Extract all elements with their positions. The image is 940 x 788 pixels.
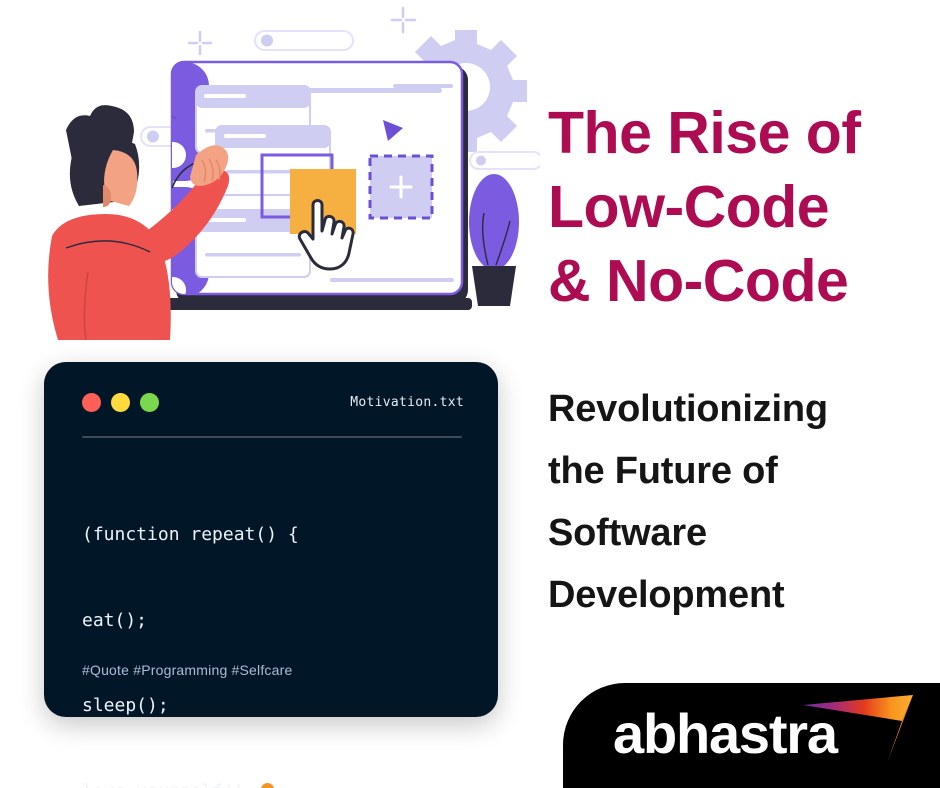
pill-toggle-right — [470, 152, 540, 169]
code-line-1: eat(); — [82, 607, 474, 636]
page-subtitle: Revolutionizing the Future of Software D… — [548, 378, 940, 626]
pill-toggle-top-right — [255, 31, 353, 50]
headline-line-1: The Rise of — [548, 96, 940, 170]
accent-dot-icon — [261, 783, 274, 788]
brand-logo: abhastra — [563, 683, 940, 788]
code-card-filename: Motivation.txt — [350, 395, 464, 410]
minimize-dot[interactable] — [111, 393, 130, 412]
code-line-0: (function repeat() { — [82, 521, 474, 550]
subheadline-line-4: Development — [548, 564, 940, 626]
code-line-2: sleep(); — [82, 692, 474, 721]
page-title: The Rise of Low-Code & No-Code — [548, 96, 940, 318]
code-card-divider — [82, 436, 462, 438]
poster-canvas: Motivation.txt (function repeat() { eat(… — [0, 0, 940, 788]
headline-line-3: & No-Code — [548, 244, 940, 318]
hashtags-text: #Quote #Programming #Selfcare — [82, 662, 292, 678]
code-line-3: love_yourself(); — [82, 781, 255, 788]
logo-swoosh-icon — [801, 691, 931, 771]
sparkle-plus-icon — [392, 8, 415, 32]
subheadline-line-1: Revolutionizing — [548, 378, 940, 440]
sparkle-plus-icon-2 — [189, 32, 211, 54]
code-block: (function repeat() { eat(); sleep(); lov… — [82, 464, 474, 788]
close-dot[interactable] — [82, 393, 101, 412]
code-card: Motivation.txt (function repeat() { eat(… — [44, 362, 498, 717]
potted-plant — [469, 174, 519, 306]
window-controls[interactable] — [82, 393, 159, 412]
dashed-dropzone — [370, 156, 432, 218]
screen-line-1 — [393, 84, 453, 88]
maximize-dot[interactable] — [140, 393, 159, 412]
tablet-base — [164, 298, 472, 310]
code-line-3-wrapper: love_yourself(); — [82, 778, 474, 788]
subheadline-line-3: Software — [548, 502, 940, 564]
screen-line-2 — [330, 278, 454, 282]
low-code-builder-illustration — [0, 0, 540, 340]
headline-line-2: Low-Code — [548, 170, 940, 244]
subheadline-line-2: the Future of — [548, 440, 940, 502]
